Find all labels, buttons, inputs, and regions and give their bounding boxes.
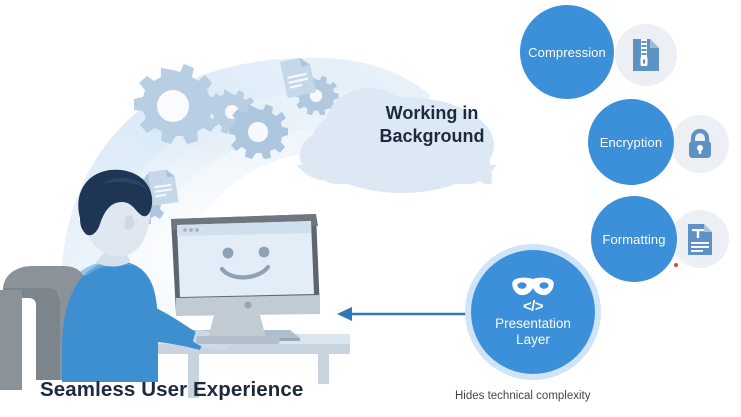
padlock-icon [671,115,729,173]
presentation-layer-title-line2: Layer [516,332,550,348]
service-label-encryption: Encryption [600,135,662,150]
presentation-layer-caption: Hides technical complexity [455,390,591,402]
cloud-label-line1: Working in [352,102,512,125]
formatting-ball[interactable]: Formatting [591,196,677,282]
cloud-label-line2: Background [352,125,512,148]
text-document-icon [671,210,729,268]
seamless-user-experience-title: Seamless User Experience [40,378,303,402]
code-brackets-icon: </> [523,298,543,315]
service-label-formatting: Formatting [602,232,665,247]
presentation-layer-title-line1: Presentation [495,316,571,332]
service-label-compression: Compression [528,45,606,60]
red-accent-dot [674,263,678,267]
carnival-mask-icon [511,277,555,297]
infographic-canvas: Compression Encryption [0,0,741,417]
encryption-ball[interactable]: Encryption [588,99,674,185]
zip-file-icon [615,24,677,86]
flow-arrow-to-monitor[interactable] [337,307,468,321]
cloud-label: Working in Background [352,102,512,148]
presentation-layer-node[interactable]: </> Presentation Layer [471,250,595,374]
compression-ball[interactable]: Compression [520,5,614,99]
